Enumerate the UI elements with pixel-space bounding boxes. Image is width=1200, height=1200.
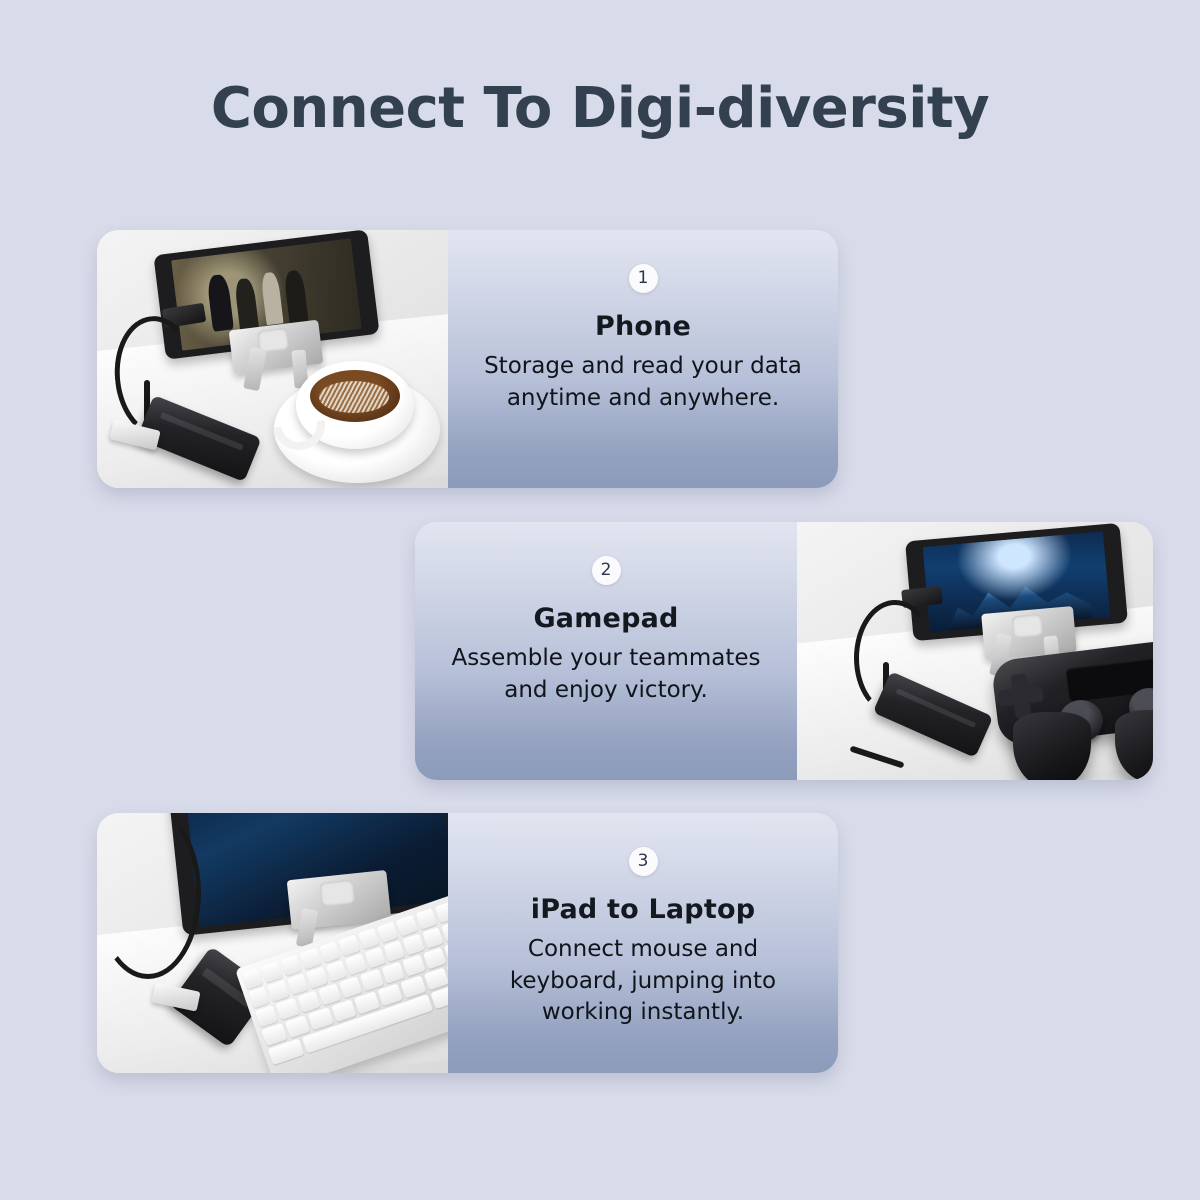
stand-notch	[319, 879, 355, 906]
gamepad-grip	[1013, 712, 1091, 780]
card-title: iPad to Laptop	[531, 894, 755, 925]
key	[306, 967, 328, 989]
feature-card-phone: 1 Phone Storage and read your data anyti…	[97, 230, 838, 488]
key	[423, 947, 447, 969]
key	[325, 960, 347, 982]
key	[377, 921, 399, 943]
key	[276, 998, 300, 1020]
card-description: Storage and read your data anytime and a…	[473, 351, 813, 414]
key	[287, 973, 309, 995]
card-text-panel-ipad: 3 iPad to Laptop Connect mouse and keybo…	[448, 813, 838, 1073]
key	[339, 976, 363, 998]
key	[396, 915, 418, 937]
key	[358, 928, 380, 950]
photo-phone-setup	[97, 230, 448, 488]
step-number-badge: 2	[592, 556, 621, 585]
page-title: Connect To Digi-diversity	[0, 78, 1200, 140]
key	[248, 987, 270, 1009]
key	[268, 980, 290, 1002]
key	[242, 968, 264, 990]
key	[255, 1005, 279, 1027]
key	[345, 954, 367, 976]
key	[360, 969, 384, 991]
coffee-crema	[319, 381, 389, 413]
key	[423, 967, 448, 990]
key	[415, 908, 437, 930]
key	[435, 901, 448, 923]
key	[300, 948, 322, 970]
card-title: Gamepad	[533, 603, 678, 634]
step-number-badge: 3	[629, 847, 658, 876]
feature-card-gamepad: 2 Gamepad Assemble your teammates and en…	[415, 522, 1153, 780]
key	[402, 954, 426, 976]
key	[318, 983, 342, 1005]
key	[338, 935, 360, 957]
key	[381, 962, 405, 984]
card-title: Phone	[595, 311, 691, 342]
feature-card-ipad-to-laptop: 3 iPad to Laptop Connect mouse and keybo…	[97, 813, 838, 1073]
stand-notch	[1011, 614, 1043, 639]
card-text-panel-phone: 1 Phone Storage and read your data anyti…	[448, 230, 838, 488]
key	[261, 961, 283, 983]
photo-gamepad-setup	[797, 522, 1153, 780]
key	[383, 940, 405, 962]
key	[403, 934, 425, 956]
card-description: Connect mouse and keyboard, jumping into…	[473, 934, 813, 1029]
card-text-panel-gamepad: 2 Gamepad Assemble your teammates and en…	[415, 522, 797, 780]
key	[280, 955, 302, 977]
card-description: Assemble your teammates and enjoy victor…	[436, 643, 776, 706]
key	[297, 991, 321, 1013]
key	[319, 941, 341, 963]
photo-ipad-setup	[97, 813, 448, 1073]
step-number-badge: 1	[629, 264, 658, 293]
key	[422, 927, 444, 949]
key	[364, 947, 386, 969]
